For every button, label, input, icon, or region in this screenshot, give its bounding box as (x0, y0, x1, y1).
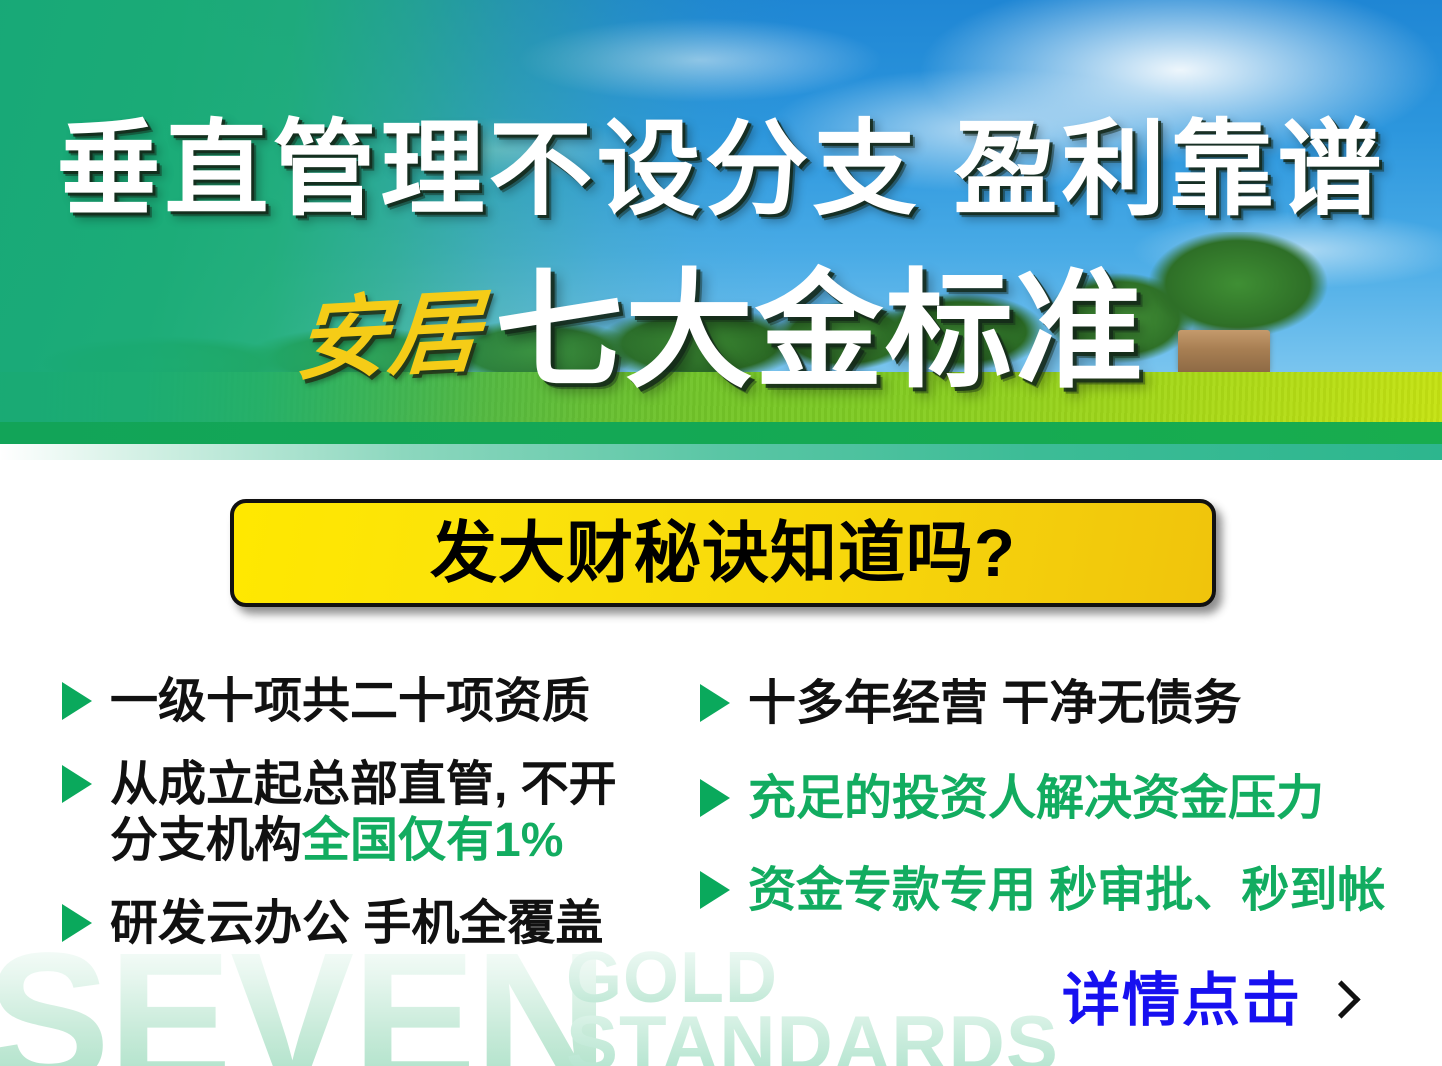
list-item: 一级十项共二十项资质 (62, 674, 682, 731)
list-item: 充足的投资人解决资金压力 (700, 771, 1400, 828)
watermark-standards: STANDARDS (566, 1004, 1059, 1066)
hero-section: 垂直管理不设分支 盈利靠谱 安居 七大金标准 (0, 0, 1442, 460)
list-item: 十多年经营 干净无债务 (700, 676, 1400, 733)
details-cta-link[interactable]: 详情点击 (1062, 972, 1352, 1030)
list-item-label: 十多年经营 干净无债务 (748, 676, 1241, 733)
hero-subheadline: 七大金标准 (495, 268, 1145, 396)
hero-headline: 垂直管理不设分支 盈利靠谱 (0, 118, 1442, 222)
features-right-column: 十多年经营 干净无债务 充足的投资人解决资金压力 资金专款专用 秒审批、秒到帐 (700, 662, 1400, 946)
list-item-label: 研发云办公 手机全覆盖 (110, 896, 603, 953)
green-divider-band (0, 422, 1442, 444)
list-item: 从成立起总部直管, 不开 分支机构全国仅有1% (62, 757, 682, 870)
chevron-right-icon (1326, 979, 1352, 1023)
list-item-label: 一级十项共二十项资质 (110, 674, 590, 731)
divider-shadow-band (0, 444, 1442, 460)
list-item-label: 充足的投资人解决资金压力 (748, 771, 1324, 828)
hero-subheadline-row: 安居 七大金标准 (0, 268, 1442, 396)
green-triangle-icon (700, 779, 730, 817)
list-item-line-2-highlight: 全国仅有1% (302, 814, 563, 867)
list-item-line-1: 从成立起总部直管, 不开 (110, 758, 617, 811)
promo-banner: 垂直管理不设分支 盈利靠谱 安居 七大金标准 发大财秘诀知道吗? 一级十项共二十… (0, 0, 1442, 1066)
features-section: 一级十项共二十项资质 从成立起总部直管, 不开 分支机构全国仅有1% 研发云办公… (0, 662, 1442, 992)
headline-button[interactable]: 发大财秘诀知道吗? (230, 499, 1216, 607)
green-triangle-icon (62, 904, 92, 942)
green-triangle-icon (62, 682, 92, 720)
list-item: 研发云办公 手机全覆盖 (62, 896, 682, 953)
list-item-line-2-plain: 分支机构 (110, 814, 302, 867)
headline-button-label: 发大财秘诀知道吗? (430, 520, 1016, 587)
list-item: 资金专款专用 秒审批、秒到帐 (700, 863, 1400, 920)
green-triangle-icon (700, 871, 730, 909)
green-triangle-icon (62, 765, 92, 803)
green-triangle-icon (700, 684, 730, 722)
list-item-label: 资金专款专用 秒审批、秒到帐 (748, 863, 1385, 920)
brand-name: 安居 (293, 287, 484, 387)
details-cta-label: 详情点击 (1062, 972, 1302, 1030)
list-item-label: 从成立起总部直管, 不开 分支机构全国仅有1% (110, 757, 617, 870)
features-left-column: 一级十项共二十项资质 从成立起总部直管, 不开 分支机构全国仅有1% 研发云办公… (62, 662, 682, 979)
